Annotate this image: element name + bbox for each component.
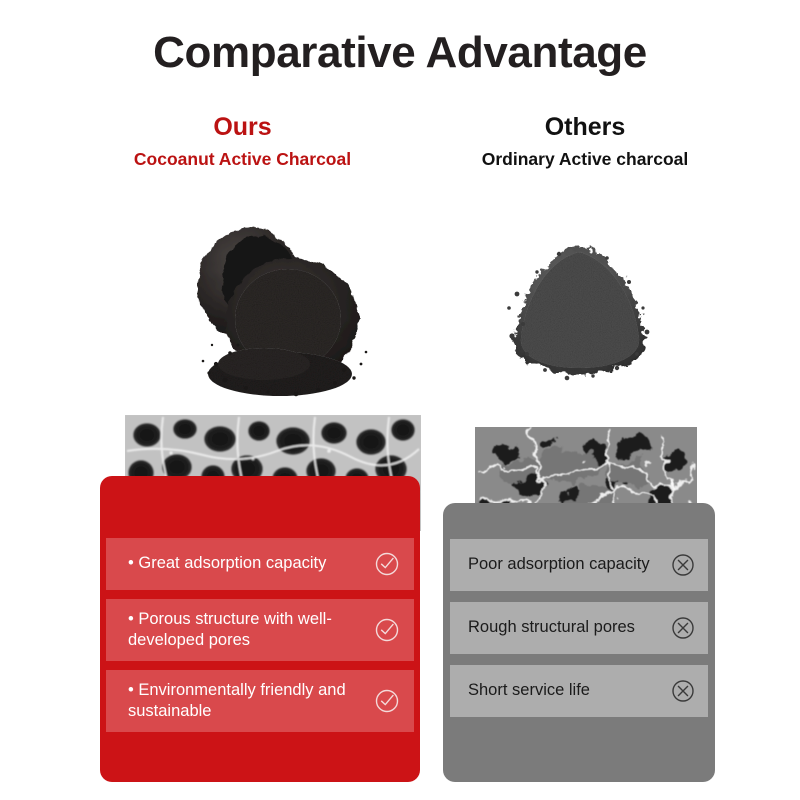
feature-text: Short service life bbox=[468, 680, 660, 701]
column-heading-ours: Ours Cocoanut Active Charcoal bbox=[105, 114, 380, 169]
comparison-card-ours: • Great adsorption capacity • Porous str… bbox=[100, 476, 420, 782]
feature-row: Rough structural pores bbox=[450, 602, 708, 654]
feature-row: Poor adsorption capacity bbox=[450, 539, 708, 591]
column-title-ours: Ours bbox=[105, 114, 380, 142]
feature-text: • Porous structure with well-developed p… bbox=[128, 609, 364, 651]
cross-circle-icon bbox=[670, 552, 696, 578]
feature-row: • Great adsorption capacity bbox=[106, 538, 414, 590]
check-circle-icon bbox=[374, 551, 400, 577]
feature-list-others: Poor adsorption capacity Rough structura… bbox=[443, 539, 715, 728]
feature-row: Short service life bbox=[450, 665, 708, 717]
infographic-page: Comparative Advantage Ours Cocoanut Acti… bbox=[0, 0, 800, 800]
cross-circle-icon bbox=[670, 615, 696, 641]
feature-text: • Environmentally friendly and sustainab… bbox=[128, 680, 364, 722]
cross-circle-icon bbox=[670, 678, 696, 704]
feature-row: • Porous structure with well-developed p… bbox=[106, 599, 414, 661]
product-photo-ordinary-charcoal bbox=[497, 236, 662, 386]
feature-text: Rough structural pores bbox=[468, 617, 660, 638]
column-subtitle-ours: Cocoanut Active Charcoal bbox=[105, 150, 380, 169]
product-photo-coconut-charcoal bbox=[168, 212, 383, 402]
column-title-others: Others bbox=[440, 114, 730, 142]
feature-text: • Great adsorption capacity bbox=[128, 553, 364, 574]
feature-text: Poor adsorption capacity bbox=[468, 554, 660, 575]
column-heading-others: Others Ordinary Active charcoal bbox=[440, 114, 730, 169]
check-circle-icon bbox=[374, 688, 400, 714]
feature-row: • Environmentally friendly and sustainab… bbox=[106, 670, 414, 732]
comparison-card-others: Poor adsorption capacity Rough structura… bbox=[443, 503, 715, 782]
feature-list-ours: • Great adsorption capacity • Porous str… bbox=[100, 538, 420, 741]
column-subtitle-others: Ordinary Active charcoal bbox=[440, 150, 730, 169]
check-circle-icon bbox=[374, 617, 400, 643]
page-title: Comparative Advantage bbox=[0, 28, 800, 78]
